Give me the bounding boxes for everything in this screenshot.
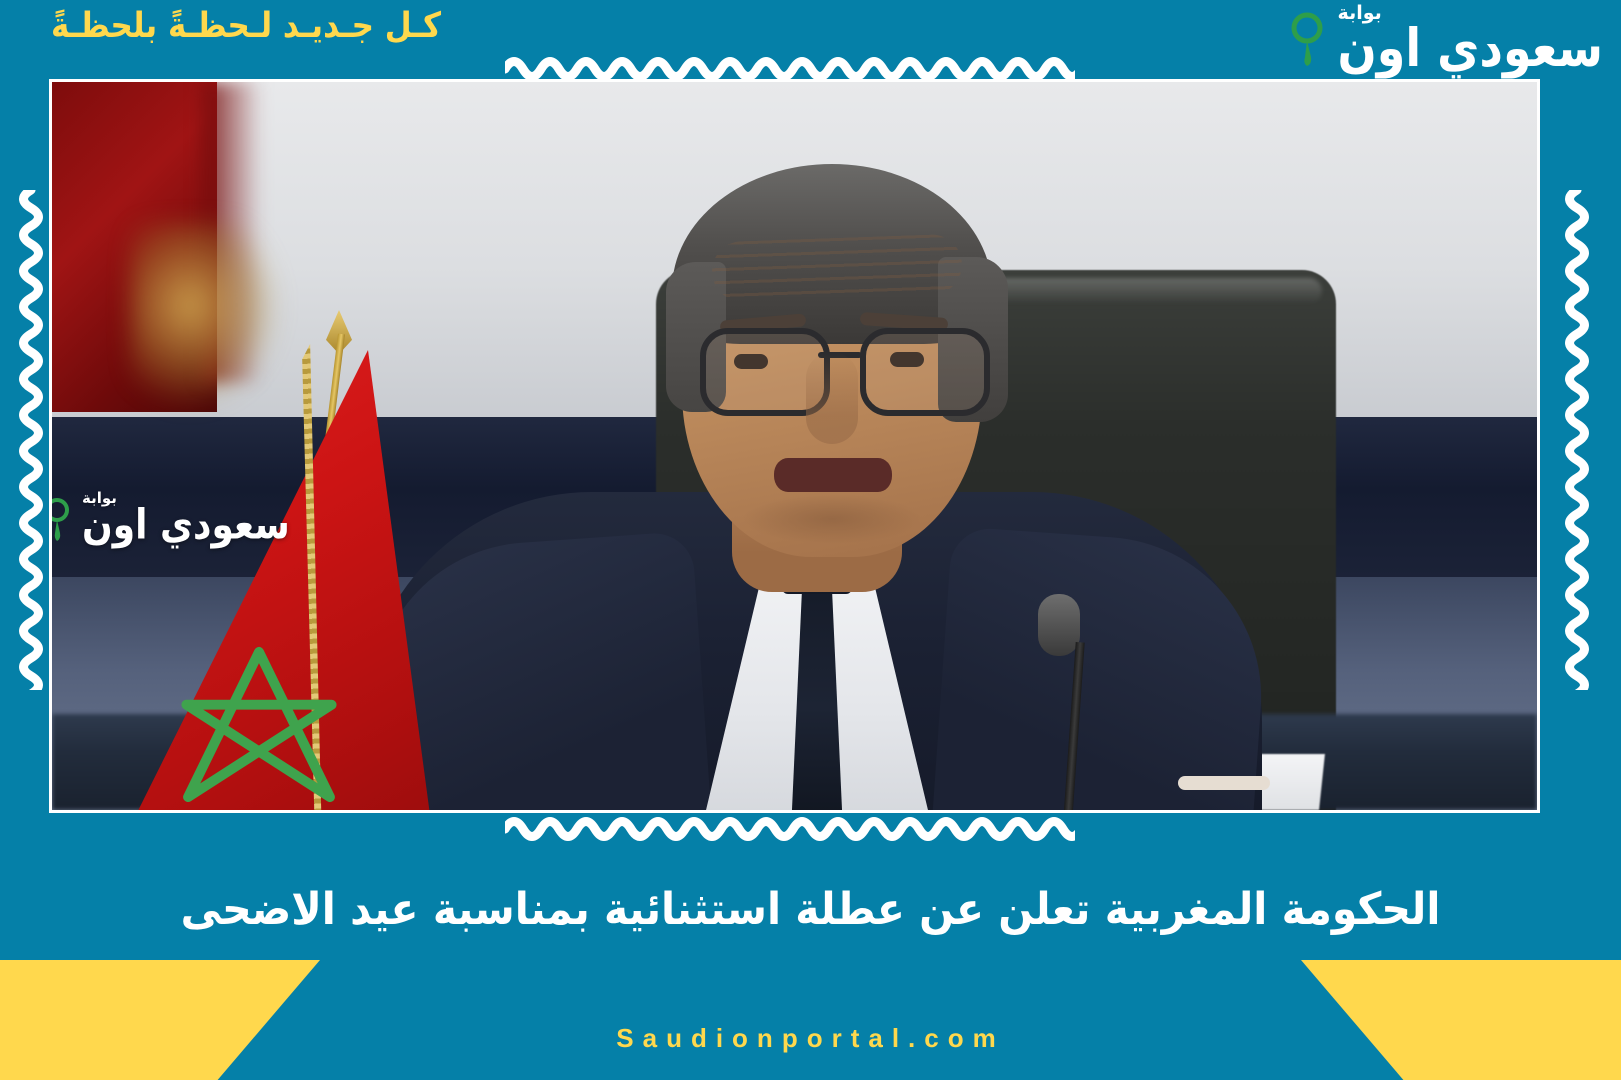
- forehead-lines: [711, 234, 963, 303]
- news-card: كـل جـديـد لـحظـةً بلحظـةً بوابة سعودي ا…: [0, 0, 1621, 1080]
- nose: [806, 352, 858, 444]
- eyeglass-lens-right: [860, 328, 990, 416]
- zigzag-divider-top-icon: [505, 52, 1075, 86]
- brand-logo-text: بوابة سعودي اون: [1338, 4, 1603, 67]
- headline: الحكومة المغربية تعلن عن عطلة استثنائية …: [0, 872, 1621, 946]
- photo-watermark-title: سعودي اون: [82, 505, 290, 546]
- footer-ribbon-left: [0, 960, 320, 1080]
- headline-text: الحكومة المغربية تعلن عن عطلة استثنائية …: [181, 883, 1441, 935]
- gold-emblem-blur: [130, 222, 280, 407]
- speaker-figure: [382, 142, 1232, 810]
- microphone-head: [1038, 594, 1080, 656]
- zigzag-divider-bottom-icon: [505, 812, 1075, 846]
- magnifier-icon: [1288, 10, 1328, 68]
- brand-logo-title: سعودي اون: [1338, 21, 1603, 74]
- brand-logo[interactable]: بوابة سعودي اون: [1288, 2, 1603, 68]
- photo-watermark-text: بوابة سعودي اون: [82, 491, 290, 541]
- photo-watermark: بوابة سعودي اون: [52, 490, 290, 542]
- teeth: [1178, 776, 1270, 790]
- suit-shoulder-right: [932, 526, 1272, 810]
- chin-shadow: [742, 494, 922, 544]
- news-photo-scene: بوابة سعودي اون: [52, 82, 1537, 810]
- news-photo: بوابة سعودي اون: [52, 82, 1537, 810]
- zigzag-divider-right-icon: [1560, 190, 1594, 690]
- mouth: [774, 458, 892, 492]
- flag-pentagram-icon: [174, 642, 344, 807]
- site-tagline: كـل جـديـد لـحظـةً بلحظـةً: [21, 8, 441, 44]
- site-tagline-text: كـل جـديـد لـحظـةً بلحظـةً: [51, 6, 441, 46]
- watermark-magnifier-icon: [52, 496, 74, 542]
- zigzag-divider-left-icon: [14, 190, 48, 690]
- footer-ribbon-right: [1301, 960, 1621, 1080]
- footer-website-url[interactable]: Saudionportal.com: [0, 1023, 1621, 1054]
